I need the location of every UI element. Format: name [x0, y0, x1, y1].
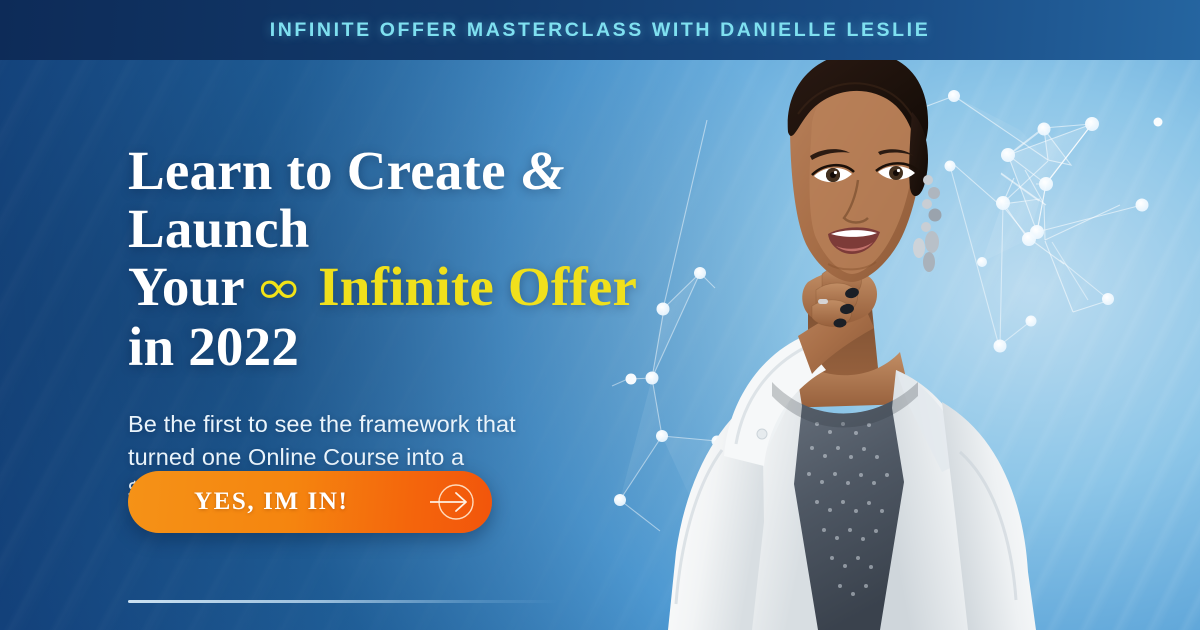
- page-title: Learn to Create & Launch Your ∞ Infinite…: [128, 142, 708, 376]
- copy-block: Learn to Create & Launch Your ∞ Infinite…: [128, 142, 708, 507]
- promo-banner: INFINITE OFFER MASTERCLASS WITH DANIELLE…: [0, 0, 1200, 630]
- arrow-right-circle-icon: [430, 482, 474, 522]
- cta-button[interactable]: YES, IM IN!: [128, 471, 492, 533]
- headline-line2-start: Your: [128, 256, 244, 317]
- infinity-icon: ∞: [252, 258, 310, 316]
- headline-line-1: Learn to Create & Launch: [128, 140, 567, 259]
- subhead-line-2: turned one Online Course into a: [128, 444, 464, 470]
- headline-line1-end: Launch: [128, 198, 310, 259]
- cta-label: YES, IM IN!: [194, 488, 348, 516]
- eyebrow-text: INFINITE OFFER MASTERCLASS WITH DANIELLE…: [270, 19, 931, 42]
- ampersand: &: [520, 140, 567, 201]
- eyebrow-band: INFINITE OFFER MASTERCLASS WITH DANIELLE…: [0, 0, 1200, 60]
- headline-line1-text: Learn to Create: [128, 140, 506, 201]
- bottom-divider: [128, 600, 558, 603]
- headline-line-3: in 2022: [128, 316, 299, 377]
- headline-highlight: Infinite Offer: [318, 256, 637, 317]
- subhead-line-1: Be the first to see the framework that: [128, 411, 516, 437]
- headline-line-2: Your ∞ Infinite Offer: [128, 256, 637, 317]
